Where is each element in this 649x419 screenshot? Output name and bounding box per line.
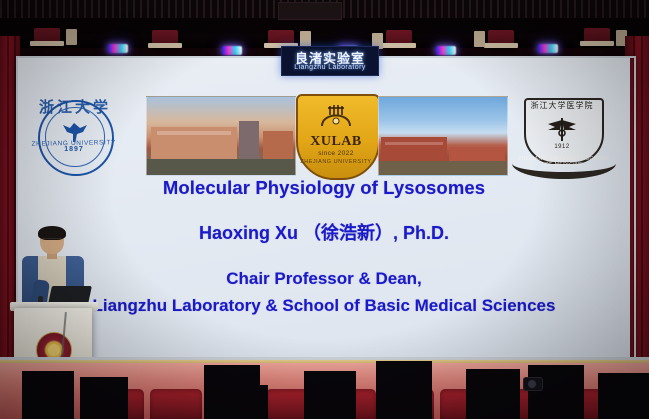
stage-light-housing (474, 31, 485, 47)
audience-member (304, 371, 356, 419)
audience-member (218, 385, 268, 419)
ceiling-beam (0, 18, 649, 34)
stage-light (488, 30, 514, 47)
ceiling-vent (278, 2, 342, 20)
camera-icon (524, 378, 542, 390)
stage-light-housing (66, 29, 77, 45)
led-light (538, 44, 558, 53)
zju-school-of-medicine-logo: 浙江大学医学院 1912 ZHEJIANG UNIVERSITY SCHOOL … (510, 96, 618, 176)
xulab-university: ZHEJIANG UNIVERSITY (296, 159, 376, 165)
audience-member (80, 377, 128, 419)
projection-screen: 浙江大学 1897 ZHEJIANG UNIVERSITY (18, 58, 630, 363)
slide-logo-row: 浙江大学 1897 ZHEJIANG UNIVERSITY (18, 78, 630, 166)
stage-light-housing (300, 31, 311, 47)
stage-light (152, 30, 178, 47)
stage-light (386, 30, 412, 47)
zhejiang-university-logo: 浙江大学 1897 ZHEJIANG UNIVERSITY (24, 100, 142, 174)
slide-presenter: Haoxing Xu （徐浩新）, Ph.D. (18, 224, 630, 243)
med-chinese-name: 浙江大学医学院 (524, 100, 600, 111)
campus-photo-sunset (146, 96, 296, 176)
slide-title: Molecular Physiology of Lysosomes (18, 178, 630, 197)
audience-member (598, 373, 649, 419)
glasses-icon (41, 238, 63, 243)
slide-role-line-1: Chair Professor & Dean, (18, 270, 630, 288)
lecture-hall-photo: 浙江大学 1897 ZHEJIANG UNIVERSITY (0, 0, 649, 419)
ceiling (0, 0, 649, 48)
xulab-logo: XULAB since 2022 ZHEJIANG UNIVERSITY (296, 94, 376, 176)
campus-photo-brick-buildings (378, 96, 508, 176)
audience-member (22, 371, 74, 419)
audience-member (376, 361, 432, 419)
audience-member (466, 369, 520, 419)
audience-member-with-camera (528, 365, 584, 419)
zju-arc-text: ZHEJIANG UNIVERSITY (26, 139, 123, 175)
led-light (436, 46, 456, 55)
slide-text-block: Molecular Physiology of Lysosomes Haoxin… (18, 178, 630, 315)
stage-light (268, 30, 294, 47)
slide-role-line-2: Liangzhu Laboratory & School of Basic Me… (18, 297, 630, 315)
caduceus-icon (546, 114, 578, 144)
led-light (108, 44, 128, 53)
liangzhu-laboratory-sign: 良渚实验室 Liangzhu Laboratory (281, 46, 379, 76)
xulab-name: XULAB (296, 134, 376, 150)
med-arc-text: ZHEJIANG UNIVERSITY SCHOOL OF MEDICINE (516, 156, 612, 168)
xulab-emblem-icon (318, 102, 354, 130)
sign-english-text: Liangzhu Laboratory (282, 64, 378, 71)
led-light (222, 46, 242, 55)
stage-light (34, 28, 60, 45)
xulab-since: since 2022 (296, 150, 376, 157)
stage-light (584, 28, 610, 45)
audience-seat (150, 389, 202, 419)
